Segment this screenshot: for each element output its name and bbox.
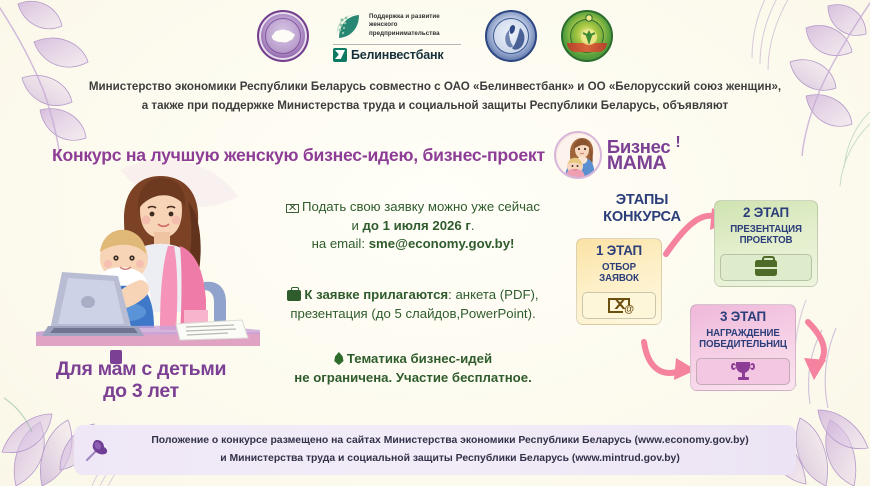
stage-card-3[interactable]: 3 ЭТАП НАГРАЖДЕНИЕ ПОБЕДИТЕЛЬНИЦ [690,304,796,391]
email-prefix: на email: [312,236,369,251]
stages-heading: ЭТАПЫ КОНКУРСА [578,192,706,226]
stage-2-caption: ПРЕЗЕНТАЦИЯ ПРОЕКТОВ [721,224,811,247]
stage-3-caption: НАГРАЖДЕНИЕ ПОБЕДИТЕЛЬНИЦ [697,328,789,351]
info-line: К заявке прилагаются: анкета (PDF), [248,286,578,305]
attachments-value: : анкета (PDF), [448,287,538,302]
info-line: презентация (до 5 слайдов,PowerPoint). [248,305,578,324]
audience-caption-line-1: Для мам с детьми [56,358,226,380]
arrow-stage2-to-stage3 [808,322,824,366]
belinvestbank-mark-icon [333,48,347,62]
trophy-icon [732,362,754,381]
envelope-icon [286,204,299,213]
info-line: и до 1 июля 2026 г. [248,217,578,236]
business-mama-line-2: МАМА [607,155,671,173]
divider [333,44,461,45]
deadline-date: до 1 июля 2026 г [363,218,471,233]
stages-heading-line-2: КОНКУРСА [603,209,681,225]
briefcase-icon [755,260,777,276]
ministry-of-economy-emblem [257,10,309,62]
info-line: не ограничена. Участие бесплатное. [248,369,578,388]
footer-line-2: и Министерства труда и социальной защиты… [220,453,680,464]
envelope-at-icon: @ [608,298,630,313]
page-title: Конкурс на лучшую женскую бизнес-идею, б… [52,145,545,166]
leaf-icon [334,352,344,365]
belinvestbank-leaf-mark [333,11,363,41]
belinvestbank-logo: Поддержка и развитие женского предприним… [333,11,461,62]
stage-2-iconbox [720,254,812,281]
topics-value: не ограничена. Участие бесплатное. [294,370,531,385]
stages-heading-line-1: ЭТАПЫ [616,192,669,208]
partner-logos-row: Поддержка и развитие женского предприним… [0,6,870,66]
info-line: Тематика бизнес-идей [248,350,578,369]
footer-text: Положение о конкурсе размещено на сайтах… [118,432,782,467]
stage-3-iconbox [696,358,790,385]
pushpin-icon [84,437,110,463]
email-address[interactable]: sme@economy.gov.by! [369,236,515,251]
stage-card-2[interactable]: 2 ЭТАП ПРЕЗЕНТАЦИЯ ПРОЕКТОВ [714,200,818,287]
business-mama-logo: Бизнес МАМА ! [554,131,681,179]
footer-banner: Положение о конкурсе размещено на сайтах… [74,425,796,475]
belinvestbank-slogan: Поддержка и развитие женского предприним… [369,13,455,38]
audience-caption-line-2: до 3 лет [103,380,179,402]
stage-1-iconbox: @ [582,292,656,319]
belinvestbank-name: Белинвестбанк [351,48,443,62]
intro-paragraph: Министерство экономики Республики Белару… [55,78,815,116]
info-line: на email: sme@economy.gov.by! [248,235,578,254]
deadline-prefix: и [351,218,362,233]
briefcase-icon [287,290,301,301]
application-info-block: Подать свою заявку можно уже сейчас и до… [248,198,578,254]
apply-now-text: Подать свою заявку можно уже сейчас [302,199,540,214]
attachments-label: К заявке прилагаются [304,287,448,302]
audience-caption: Для мам с детьми до 3 лет [26,358,256,402]
info-line: Подать свою заявку можно уже сейчас [248,198,578,217]
intro-line-1: Министерство экономики Республики Белару… [89,80,781,93]
topics-info-block: Тематика бизнес-идей не ограничена. Учас… [248,350,578,387]
topics-label: Тематика бизнес-идей [347,351,492,366]
ministry-of-labour-emblem [561,10,613,62]
exclamation-mark: ! [675,134,680,152]
arrow-stage1-to-stage3 [644,342,682,373]
stage-1-caption: ОТБОР ЗАЯВОК [583,262,655,285]
stage-1-number: 1 ЭТАП [583,244,655,259]
mother-and-baby-icon [554,131,602,179]
poster-canvas: Поддержка и развитие женского предприним… [0,0,870,486]
belarusian-union-of-women-emblem [485,10,537,62]
stage-2-number: 2 ЭТАП [721,206,811,221]
business-mama-wordmark: Бизнес МАМА [607,138,671,173]
stage-3-number: 3 ЭТАП [697,310,789,325]
footer-line-1: Положение о конкурсе размещено на сайтах… [151,435,748,446]
mother-with-baby-at-laptop-illustration [28,172,260,364]
stage-card-1[interactable]: 1 ЭТАП ОТБОР ЗАЯВОК @ [576,238,662,325]
attachments-info-block: К заявке прилагаются: анкета (PDF), през… [248,286,578,323]
deadline-suffix: . [471,218,475,233]
intro-line-2: а также при поддержке Министерства труда… [55,97,815,116]
